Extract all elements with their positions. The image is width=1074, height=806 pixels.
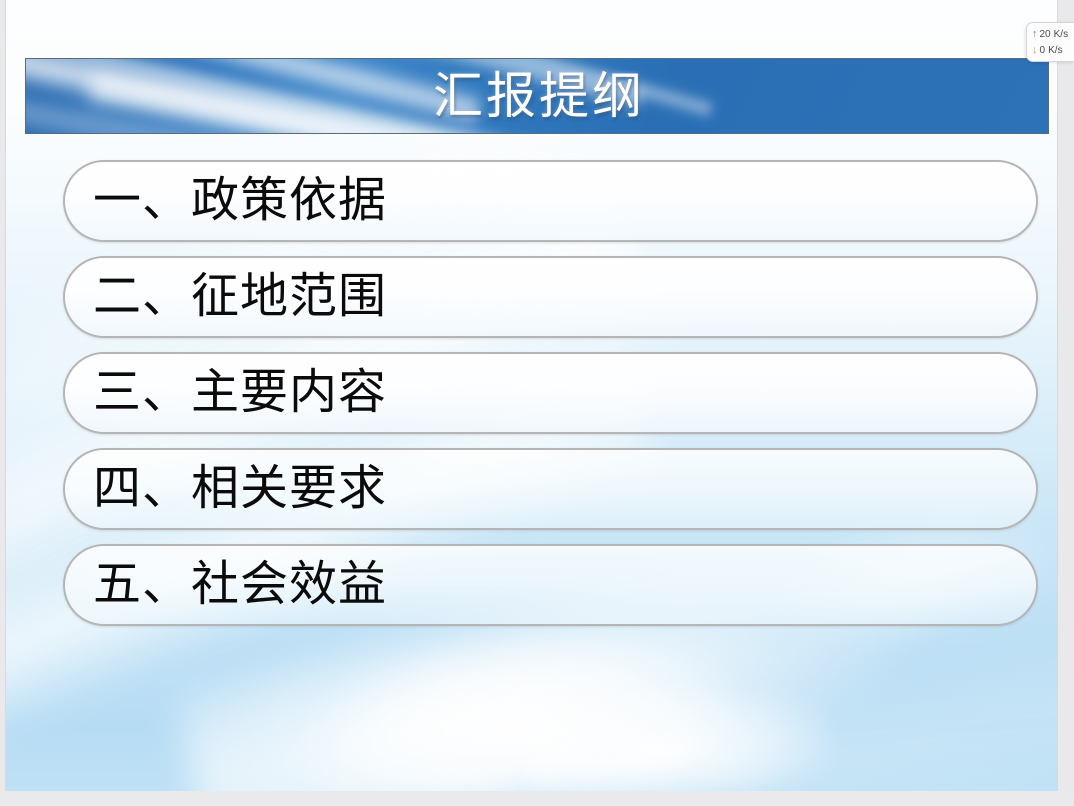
upload-arrow-icon: ↑ [1032,29,1038,40]
cloud-streak-bottom-right [699,638,1058,791]
download-value: 0 [1040,45,1046,56]
outline-item-3[interactable]: 三、主要内容 [63,352,1038,434]
desktop-bottom-strip [0,791,1074,806]
outline-list: 一、政策依据 二、征地范围 三、主要内容 四、相关要求 五、社会效益 [63,160,1038,626]
network-download-row: ↓ 0 K/s [1032,42,1074,58]
cloud-puff-bottom [522,677,830,791]
presentation-screen: 汇报提纲 一、政策依据 二、征地范围 三、主要内容 四、相关要求 五、社会效益 … [0,0,1074,806]
cloud-puff-lower [298,612,735,791]
outline-item-label: 五、社会效益 [65,561,387,609]
outline-item-label: 二、征地范围 [65,273,387,321]
upload-unit: K/s [1054,29,1068,40]
outline-item-2[interactable]: 二、征地范围 [63,256,1038,338]
outline-item-label: 一、政策依据 [65,177,387,225]
outline-item-label: 三、主要内容 [65,369,387,417]
outline-item-5[interactable]: 五、社会效益 [63,544,1038,626]
outline-item-4[interactable]: 四、相关要求 [63,448,1038,530]
network-speed-widget[interactable]: ↑ 20 K/s ↓ 0 K/s [1026,22,1074,62]
download-arrow-icon: ↓ [1032,45,1038,56]
upload-value: 20 [1040,29,1051,40]
outline-item-1[interactable]: 一、政策依据 [63,160,1038,242]
network-upload-row: ↑ 20 K/s [1032,26,1074,42]
download-unit: K/s [1048,45,1062,56]
outline-item-label: 四、相关要求 [65,465,387,513]
slide-title: 汇报提纲 [26,59,1048,133]
slide-canvas: 汇报提纲 一、政策依据 二、征地范围 三、主要内容 四、相关要求 五、社会效益 [5,0,1058,791]
title-banner: 汇报提纲 [25,58,1049,134]
